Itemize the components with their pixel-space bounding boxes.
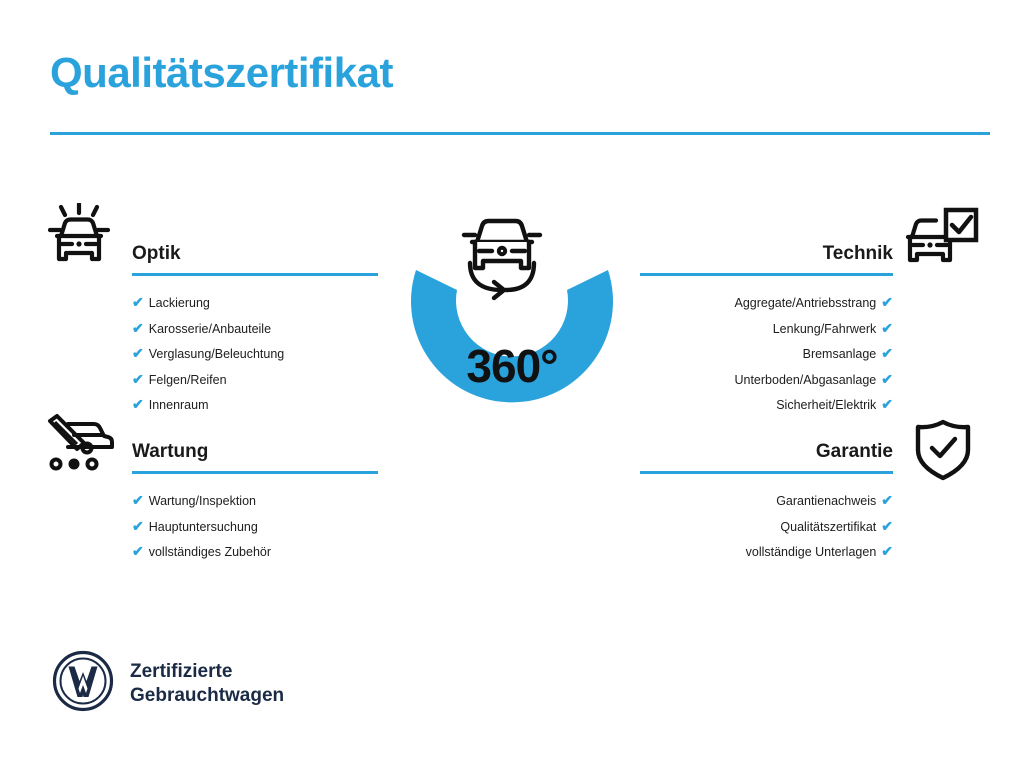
section-wartung-header: Wartung	[132, 440, 378, 474]
section-optik-divider	[132, 273, 378, 276]
check-icon: ✔	[132, 345, 144, 361]
list-item: Aggregate/Antriebsstrang✔	[640, 290, 893, 316]
list-item: ✔Karosserie/Anbauteile	[132, 316, 378, 342]
footer-line-1: Zertifizierte	[130, 661, 232, 682]
section-garantie-title: Garantie	[640, 440, 893, 464]
list-item: Unterboden/Abgasanlage✔	[640, 367, 893, 393]
check-icon: ✔	[881, 320, 893, 336]
list-item: ✔vollständiges Zubehör	[132, 539, 378, 565]
list-item-label: Bremsanlage	[803, 347, 877, 361]
check-icon: ✔	[881, 543, 893, 559]
car-checkbox-icon	[904, 207, 980, 274]
list-item-label: Innenraum	[149, 398, 209, 412]
section-technik-list: Aggregate/Antriebsstrang✔ Lenkung/Fahrwe…	[640, 290, 893, 418]
car-shine-icon	[44, 203, 114, 274]
list-item-label: Wartung/Inspektion	[149, 494, 256, 508]
list-item-label: Sicherheit/Elektrik	[776, 398, 876, 412]
list-item: Qualitätszertifikat✔	[640, 514, 893, 540]
section-technik-title: Technik	[640, 242, 893, 266]
check-icon: ✔	[881, 294, 893, 310]
check-icon: ✔	[881, 396, 893, 412]
check-icon: ✔	[132, 396, 144, 412]
badge-value: 360°	[378, 343, 646, 389]
check-icon: ✔	[132, 294, 144, 310]
check-icon: ✔	[881, 518, 893, 534]
list-item: Garantienachweis✔	[640, 488, 893, 514]
section-garantie-list: Garantienachweis✔ Qualitätszertifikat✔ v…	[640, 488, 893, 565]
list-item-label: Lenkung/Fahrwerk	[773, 322, 877, 336]
list-item-label: vollständiges Zubehör	[149, 545, 271, 559]
check-icon: ✔	[881, 371, 893, 387]
check-icon: ✔	[132, 320, 144, 336]
check-icon: ✔	[881, 345, 893, 361]
section-wartung-list: ✔Wartung/Inspektion ✔Hauptuntersuchung ✔…	[132, 488, 378, 565]
list-item-label: Felgen/Reifen	[149, 373, 227, 387]
check-icon: ✔	[132, 492, 144, 508]
list-item: Sicherheit/Elektrik✔	[640, 392, 893, 418]
list-item: ✔Lackierung	[132, 290, 378, 316]
page-title: Qualitätszertifikat	[50, 52, 393, 94]
vw-logo-icon	[52, 650, 114, 717]
section-garantie: Garantie Garantienachweis✔ Qualitätszert…	[640, 440, 893, 565]
check-icon: ✔	[881, 492, 893, 508]
list-item: ✔Innenraum	[132, 392, 378, 418]
section-wartung: Wartung ✔Wartung/Inspektion ✔Hauptunters…	[132, 440, 378, 565]
list-item: vollständige Unterlagen✔	[640, 539, 893, 565]
list-item: ✔Hauptuntersuchung	[132, 514, 378, 540]
section-optik-header: Optik	[132, 242, 378, 276]
car-service-pen-icon	[44, 413, 116, 476]
section-technik: Technik Aggregate/Antriebsstrang✔ Lenkun…	[640, 242, 893, 418]
check-icon: ✔	[132, 518, 144, 534]
list-item-label: vollständige Unterlagen	[746, 545, 877, 559]
check-icon: ✔	[132, 371, 144, 387]
section-technik-divider	[640, 273, 893, 276]
list-item: Bremsanlage✔	[640, 341, 893, 367]
list-item-label: Lackierung	[149, 296, 210, 310]
list-item-label: Aggregate/Antriebsstrang	[735, 296, 877, 310]
section-wartung-divider	[132, 471, 378, 474]
section-technik-header: Technik	[640, 242, 893, 276]
list-item-label: Garantienachweis	[776, 494, 876, 508]
list-item: ✔Verglasung/Beleuchtung	[132, 341, 378, 367]
list-item-label: Verglasung/Beleuchtung	[149, 347, 285, 361]
list-item: ✔Felgen/Reifen	[132, 367, 378, 393]
360-check-badge: Gebrauchtwagen-Check 360°	[378, 200, 646, 490]
list-item: ✔Wartung/Inspektion	[132, 488, 378, 514]
section-garantie-divider	[640, 471, 893, 474]
list-item-label: Karosserie/Anbauteile	[149, 322, 271, 336]
shield-check-icon	[914, 419, 972, 486]
section-optik-title: Optik	[132, 242, 378, 266]
list-item: Lenkung/Fahrwerk✔	[640, 316, 893, 342]
list-item-label: Hauptuntersuchung	[149, 520, 258, 534]
title-divider	[50, 132, 990, 135]
list-item-label: Qualitätszertifikat	[780, 520, 876, 534]
section-garantie-header: Garantie	[640, 440, 893, 474]
list-item-label: Unterboden/Abgasanlage	[734, 373, 876, 387]
footer-line-2: Gebrauchtwagen	[130, 685, 284, 706]
check-icon: ✔	[132, 543, 144, 559]
section-wartung-title: Wartung	[132, 440, 378, 464]
footer-brand: ZertifizierteGebrauchtwagen	[52, 650, 284, 717]
section-optik-list: ✔Lackierung ✔Karosserie/Anbauteile ✔Verg…	[132, 290, 378, 418]
footer-brand-text: ZertifizierteGebrauchtwagen	[130, 660, 284, 708]
section-optik: Optik ✔Lackierung ✔Karosserie/Anbauteile…	[132, 242, 378, 418]
